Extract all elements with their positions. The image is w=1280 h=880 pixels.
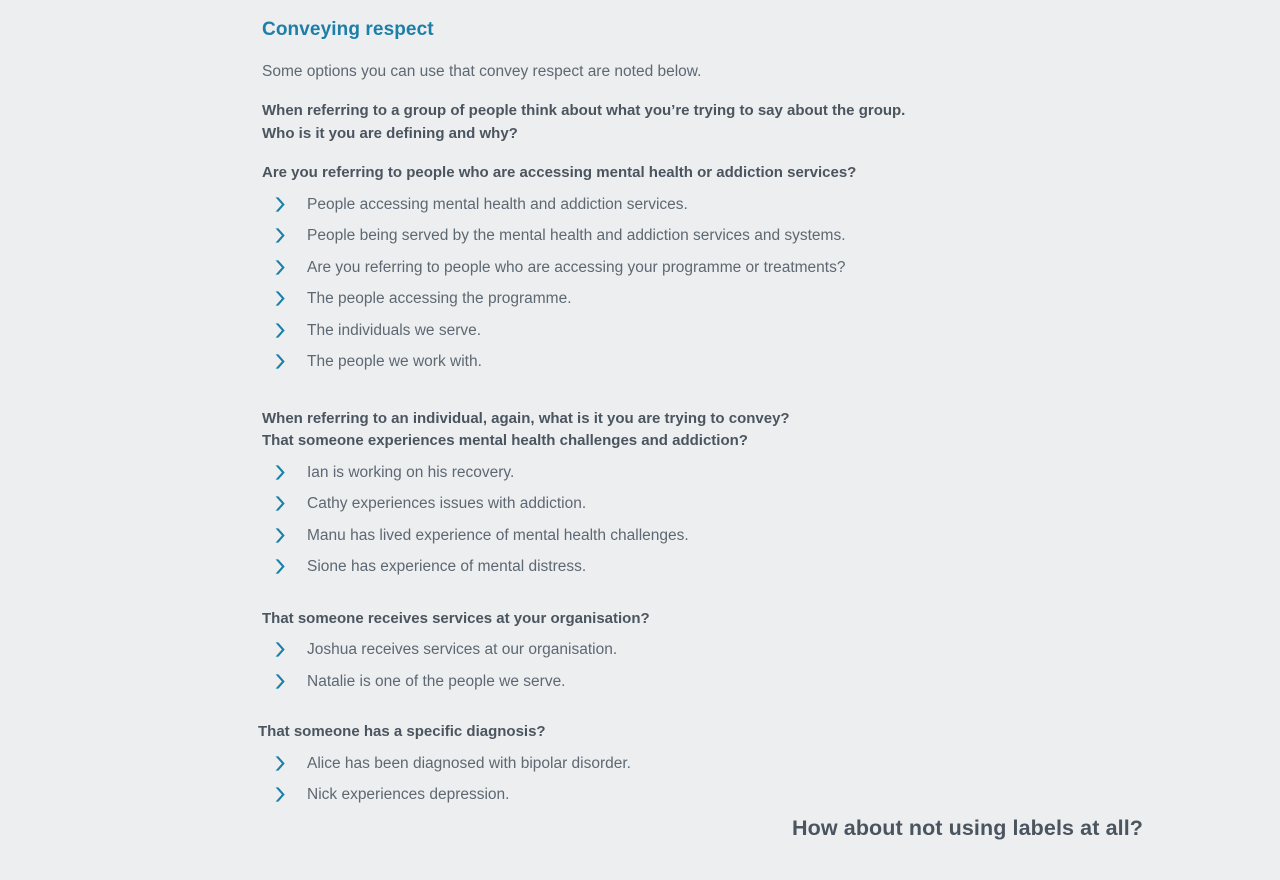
document-content: Conveying respect Some options you can u…	[262, 0, 1202, 817]
chevron-right-icon	[272, 196, 289, 213]
list-item: Joshua receives services at our organisa…	[272, 640, 1202, 659]
chevron-right-icon	[272, 322, 289, 339]
list-item-label: Natalie is one of the people we serve.	[307, 672, 1202, 691]
list-item: Nick experiences depression.	[272, 785, 1202, 804]
section-subheading-group: Are you referring to people who are acce…	[262, 162, 1202, 185]
section-heading-individual: When referring to an individual, again, …	[262, 408, 1202, 453]
list-item: Manu has lived experience of mental heal…	[272, 526, 1202, 545]
list-item-label: People accessing mental health and addic…	[307, 195, 1202, 214]
list-item-label: Ian is working on his recovery.	[307, 463, 1202, 482]
section-individual: When referring to an individual, again, …	[262, 384, 1202, 577]
list-item-label: People being served by the mental health…	[307, 226, 1202, 245]
bullet-list-individual: Ian is working on his recovery. Cathy ex…	[262, 453, 1202, 577]
list-item: People being served by the mental health…	[272, 226, 1202, 245]
list-item-label: Sione has experience of mental distress.	[307, 557, 1202, 576]
chevron-right-icon	[272, 353, 289, 370]
section-heading-services: That someone receives services at your o…	[262, 608, 1202, 631]
list-item-label: Cathy experiences issues with addiction.	[307, 494, 1202, 513]
bullet-list-diagnosis: Alice has been diagnosed with bipolar di…	[262, 744, 1202, 805]
document-page: Conveying respect Some options you can u…	[0, 0, 1280, 880]
chevron-right-icon	[272, 755, 289, 772]
chevron-right-icon	[272, 558, 289, 575]
list-item: People accessing mental health and addic…	[272, 195, 1202, 214]
bullet-list-group: People accessing mental health and addic…	[262, 185, 1202, 372]
list-item: The people we work with.	[272, 352, 1202, 371]
section-group: When referring to a group of people thin…	[262, 82, 1202, 145]
section-heading-diagnosis: That someone has a specific diagnosis?	[258, 721, 1202, 744]
list-item: Ian is working on his recovery.	[272, 463, 1202, 482]
list-item: The individuals we serve.	[272, 321, 1202, 340]
section-services: That someone receives services at your o…	[262, 589, 1202, 691]
list-item-label: The people accessing the programme.	[307, 289, 1202, 308]
chevron-right-icon	[272, 259, 289, 276]
list-item: The people accessing the programme.	[272, 289, 1202, 308]
list-item-label: Alice has been diagnosed with bipolar di…	[307, 754, 1202, 773]
chevron-right-icon	[272, 495, 289, 512]
list-item-label: Manu has lived experience of mental heal…	[307, 526, 1202, 545]
list-item-label: Joshua receives services at our organisa…	[307, 640, 1202, 659]
section-diagnosis: That someone has a specific diagnosis? A…	[262, 703, 1202, 804]
page-title: Conveying respect	[262, 0, 1202, 41]
list-item-label: Are you referring to people who are acce…	[307, 258, 1202, 277]
chevron-right-icon	[272, 673, 289, 690]
list-item: Are you referring to people who are acce…	[272, 258, 1202, 277]
intro-paragraph: Some options you can use that convey res…	[262, 41, 1202, 82]
chevron-right-icon	[272, 227, 289, 244]
footer-note: How about not using labels at all?	[792, 814, 1143, 842]
chevron-right-icon	[272, 786, 289, 803]
list-item-label: The people we work with.	[307, 352, 1202, 371]
list-item: Sione has experience of mental distress.	[272, 557, 1202, 576]
list-item: Alice has been diagnosed with bipolar di…	[272, 754, 1202, 773]
chevron-right-icon	[272, 290, 289, 307]
chevron-right-icon	[272, 527, 289, 544]
list-item-label: Nick experiences depression.	[307, 785, 1202, 804]
bullet-list-services: Joshua receives services at our organisa…	[262, 630, 1202, 691]
list-item: Natalie is one of the people we serve.	[272, 672, 1202, 691]
chevron-right-icon	[272, 464, 289, 481]
list-item-label: The individuals we serve.	[307, 321, 1202, 340]
chevron-right-icon	[272, 641, 289, 658]
list-item: Cathy experiences issues with addiction.	[272, 494, 1202, 513]
section-subheading-wrap-group: Are you referring to people who are acce…	[262, 145, 1202, 371]
section-heading-group: When referring to a group of people thin…	[262, 100, 1202, 145]
